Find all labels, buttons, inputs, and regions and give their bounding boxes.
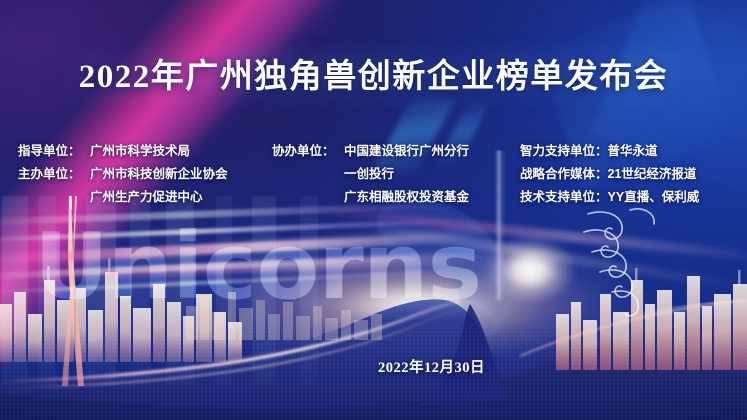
organization-row: 技术支持单位： YY直播、保利威 <box>520 186 734 209</box>
organization-row: 指导单位： 广州市科学技术局 <box>18 140 272 163</box>
organization-value: 广州市科学技术局 <box>90 140 190 163</box>
organizations-column-2: 协办单位： 中国建设银行广州分行 协办单位： 一创投行 协办单位： 广东相融股权… <box>272 140 520 209</box>
organization-value: 广州生产力促进中心 <box>90 186 203 209</box>
organization-row: 协办单位： 广东相融股权投资基金 <box>272 186 520 209</box>
organization-value: 广州市科技创新企业协会 <box>90 163 228 186</box>
organization-row: 协办单位： 中国建设银行广州分行 <box>272 140 520 163</box>
page-title: 2022年广州独角兽创新企业榜单发布会 <box>0 49 747 97</box>
organization-value: 21世纪经济报道 <box>608 163 697 186</box>
organization-value: 普华永道 <box>608 140 658 163</box>
organization-row: 主办单位： 广州生产力促进中心 <box>18 186 272 209</box>
organization-label: 技术支持单位： <box>520 186 608 209</box>
organizations-column-3: 智力支持单位： 普华永道 战略合作媒体： 21世纪经济报道 技术支持单位： YY… <box>520 140 734 209</box>
organization-value: YY直播、保利威 <box>608 186 700 209</box>
organization-row: 协办单位： 一创投行 <box>272 163 520 186</box>
organization-label: 智力支持单位： <box>520 140 608 163</box>
organization-row: 战略合作媒体： 21世纪经济报道 <box>520 163 734 186</box>
organization-value: 广东相融股权投资基金 <box>344 186 469 209</box>
organization-label: 指导单位： <box>18 140 90 163</box>
organizations-block: 指导单位： 广州市科学技术局 主办单位： 广州市科技创新企业协会 主办单位： 广… <box>18 140 734 209</box>
organization-value: 中国建设银行广州分行 <box>344 140 469 163</box>
organization-label: 协办单位： <box>272 140 344 163</box>
organization-label: 主办单位： <box>18 163 90 186</box>
event-date: 2022年12月30日 <box>58 356 747 377</box>
poster-content: 2022年广州独角兽创新企业榜单发布会 指导单位： 广州市科学技术局 主办单位：… <box>0 0 747 420</box>
organization-row: 智力支持单位： 普华永道 <box>520 140 734 163</box>
event-poster: Unicorns Unicorns 2022年广州独角兽创新企业榜单发布会 指导… <box>0 0 747 420</box>
organization-value: 一创投行 <box>344 163 394 186</box>
organization-label: 战略合作媒体： <box>520 163 608 186</box>
organizations-column-1: 指导单位： 广州市科学技术局 主办单位： 广州市科技创新企业协会 主办单位： 广… <box>18 140 272 209</box>
organization-row: 主办单位： 广州市科技创新企业协会 <box>18 163 272 186</box>
